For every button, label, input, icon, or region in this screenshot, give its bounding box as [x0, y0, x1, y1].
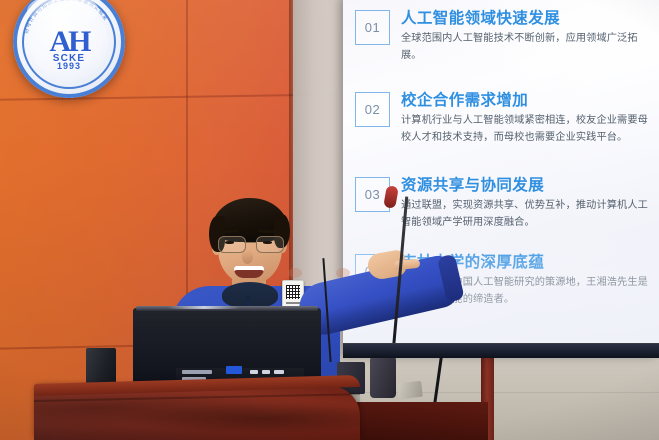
slide-item-title: 校企合作需求增加	[401, 92, 655, 109]
eye	[225, 241, 234, 244]
badge-text-line	[286, 302, 300, 304]
photo-scene: 符号计算与知识工程教育部重点实验室 Key Laboratory of SCKE…	[0, 0, 659, 440]
glasses-lens	[218, 236, 246, 253]
glasses-lens	[256, 236, 284, 253]
slide-item-desc: 计算机行业与人工智能领域紧密相连，校友企业需要母校人才和技术支持，而母校也需要企…	[401, 113, 655, 146]
glasses-bridge	[244, 242, 256, 243]
slide-number-box: 02	[355, 92, 390, 127]
slide-item-desc: 通过联盟，实现资源共享、优势互补，推动计算机人工智能领域产学研用深度融合。	[401, 198, 655, 231]
monitor-port	[250, 370, 258, 374]
slide-item-title: 资源共享与协同发展	[401, 177, 655, 194]
slide-item-title: 人工智能领域快速发展	[401, 10, 655, 27]
monitor-port	[182, 370, 212, 374]
monitor-port	[262, 370, 270, 374]
nose	[242, 250, 253, 264]
desk-paper	[397, 381, 423, 399]
slide-item-desc: 全球范围内人工智能技术不断创新，应用领域广泛拓展。	[401, 31, 655, 64]
slide-item-01: 01 人工智能领域快速发展 全球范围内人工智能技术不断创新，应用领域广泛拓展。	[355, 10, 655, 64]
slide-item-02: 02 校企合作需求增加 计算机行业与人工智能领域紧密相连，校友企业需要母校人才和…	[355, 92, 655, 146]
cheek	[288, 268, 302, 278]
smiling-mouth	[234, 266, 264, 278]
logo-year: 1993	[30, 61, 108, 71]
desk-box	[370, 356, 396, 398]
eye	[263, 241, 272, 244]
scke-logo: 符号计算与知识工程教育部重点实验室 Key Laboratory of SCKE…	[13, 0, 125, 98]
podium-side	[352, 402, 488, 440]
screen-bottom-bezel	[343, 343, 659, 358]
logo-inner-disc: AH SCKE 1993	[30, 3, 108, 81]
slide-number-box: 01	[355, 10, 390, 45]
monitor-highlight	[168, 306, 240, 309]
monitor-port-blue	[226, 366, 242, 374]
monitor-port	[274, 370, 284, 374]
qr-code-icon	[286, 285, 300, 299]
